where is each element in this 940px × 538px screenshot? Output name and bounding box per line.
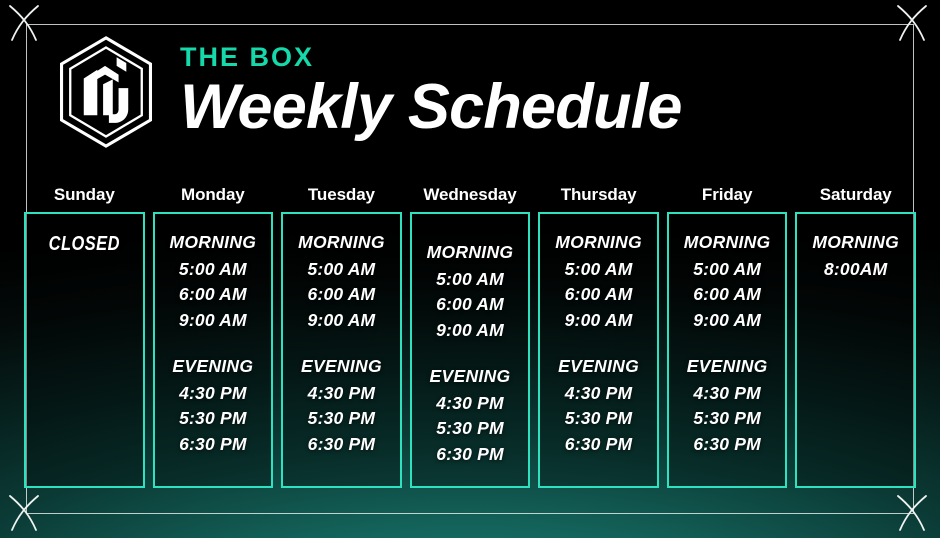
day-card-sunday[interactable]: CLOSED	[24, 212, 145, 488]
session-section-label: MORNING	[283, 234, 400, 252]
class-time-slot[interactable]: 6:30 PM	[412, 446, 529, 464]
day-column-friday: FridayMORNING5:00 AM6:00 AM9:00 AMEVENIN…	[667, 186, 788, 488]
day-column-thursday: ThursdayMORNING5:00 AM6:00 AM9:00 AMEVEN…	[538, 186, 659, 488]
day-column-sunday: SundayCLOSED	[24, 186, 145, 488]
class-time-slot[interactable]: 4:30 PM	[669, 385, 786, 403]
class-time-slot[interactable]: 5:30 PM	[155, 410, 272, 428]
class-time-slot[interactable]: 6:30 PM	[155, 436, 272, 454]
week-grid: SundayCLOSEDMondayMORNING5:00 AM6:00 AM9…	[24, 186, 916, 488]
day-name-label: Friday	[667, 186, 788, 203]
class-time-slot[interactable]: 5:00 AM	[540, 261, 657, 279]
day-name-label: Tuesday	[281, 186, 402, 203]
session-section-label: MORNING	[797, 234, 914, 252]
day-name-label: Thursday	[538, 186, 659, 203]
session-section-label: EVENING	[155, 358, 272, 376]
session-section-label: EVENING	[412, 368, 529, 386]
day-card-content: MORNING5:00 AM6:00 AM9:00 AMEVENING4:30 …	[412, 244, 529, 463]
class-time-slot[interactable]: 4:30 PM	[540, 385, 657, 403]
class-time-slot[interactable]: 9:00 AM	[155, 312, 272, 330]
class-time-slot[interactable]: 5:00 AM	[412, 271, 529, 289]
session-section-label: EVENING	[283, 358, 400, 376]
session-section-label: MORNING	[412, 244, 529, 262]
class-time-slot[interactable]: 5:30 PM	[540, 410, 657, 428]
section-spacer	[412, 347, 529, 368]
class-time-slot[interactable]: 4:30 PM	[412, 395, 529, 413]
class-time-slot[interactable]: 4:30 PM	[283, 385, 400, 403]
class-time-slot[interactable]: 8:00AM	[797, 261, 914, 279]
class-time-slot[interactable]: 9:00 AM	[283, 312, 400, 330]
class-time-slot[interactable]: 5:00 AM	[155, 261, 272, 279]
day-card-thursday[interactable]: MORNING5:00 AM6:00 AM9:00 AMEVENING4:30 …	[538, 212, 659, 488]
weekly-schedule-poster: THE BOX Weekly Schedule SundayCLOSEDMond…	[0, 0, 940, 538]
class-time-slot[interactable]: 5:30 PM	[283, 410, 400, 428]
poster-header: THE BOX Weekly Schedule	[52, 34, 682, 150]
brand-kicker: THE BOX	[180, 44, 682, 71]
class-time-slot[interactable]: 4:30 PM	[155, 385, 272, 403]
day-name-label: Saturday	[795, 186, 916, 203]
day-column-saturday: SaturdayMORNING8:00AM	[795, 186, 916, 488]
session-section-label: MORNING	[540, 234, 657, 252]
class-time-slot[interactable]: 5:30 PM	[669, 410, 786, 428]
hexagon-monogram-logo-icon	[52, 34, 160, 150]
day-column-tuesday: TuesdayMORNING5:00 AM6:00 AM9:00 AMEVENI…	[281, 186, 402, 488]
class-time-slot[interactable]: 6:00 AM	[283, 286, 400, 304]
section-spacer	[155, 337, 272, 358]
day-name-label: Sunday	[24, 186, 145, 203]
day-card-wednesday[interactable]: MORNING5:00 AM6:00 AM9:00 AMEVENING4:30 …	[410, 212, 531, 488]
class-time-slot[interactable]: 9:00 AM	[412, 322, 529, 340]
day-card-tuesday[interactable]: MORNING5:00 AM6:00 AM9:00 AMEVENING4:30 …	[281, 212, 402, 488]
day-name-label: Wednesday	[410, 186, 531, 203]
class-time-slot[interactable]: 9:00 AM	[540, 312, 657, 330]
section-spacer	[540, 337, 657, 358]
day-card-friday[interactable]: MORNING5:00 AM6:00 AM9:00 AMEVENING4:30 …	[667, 212, 788, 488]
page-title: Weekly Schedule	[180, 75, 682, 139]
class-time-slot[interactable]: 5:00 AM	[669, 261, 786, 279]
class-time-slot[interactable]: 6:00 AM	[155, 286, 272, 304]
session-section-label: EVENING	[540, 358, 657, 376]
class-time-slot[interactable]: 6:30 PM	[540, 436, 657, 454]
class-time-slot[interactable]: 6:30 PM	[283, 436, 400, 454]
class-time-slot[interactable]: 6:30 PM	[669, 436, 786, 454]
day-card-content: CLOSED	[26, 234, 143, 254]
day-card-monday[interactable]: MORNING5:00 AM6:00 AM9:00 AMEVENING4:30 …	[153, 212, 274, 488]
day-card-content: MORNING5:00 AM6:00 AM9:00 AMEVENING4:30 …	[669, 234, 786, 453]
day-card-content: MORNING5:00 AM6:00 AM9:00 AMEVENING4:30 …	[283, 234, 400, 453]
class-time-slot[interactable]: 5:00 AM	[283, 261, 400, 279]
class-time-slot[interactable]: 6:00 AM	[412, 296, 529, 314]
day-card-content: MORNING8:00AM	[797, 234, 914, 278]
day-name-label: Monday	[153, 186, 274, 203]
class-time-slot[interactable]: 5:30 PM	[412, 420, 529, 438]
class-time-slot[interactable]: 6:00 AM	[669, 286, 786, 304]
day-column-monday: MondayMORNING5:00 AM6:00 AM9:00 AMEVENIN…	[153, 186, 274, 488]
class-time-slot[interactable]: 9:00 AM	[669, 312, 786, 330]
day-card-content: MORNING5:00 AM6:00 AM9:00 AMEVENING4:30 …	[155, 234, 272, 453]
class-time-slot[interactable]: 6:00 AM	[540, 286, 657, 304]
session-section-label: EVENING	[669, 358, 786, 376]
day-column-wednesday: WednesdayMORNING5:00 AM6:00 AM9:00 AMEVE…	[410, 186, 531, 488]
closed-badge: CLOSED	[36, 234, 132, 254]
session-section-label: MORNING	[669, 234, 786, 252]
day-card-content: MORNING5:00 AM6:00 AM9:00 AMEVENING4:30 …	[540, 234, 657, 453]
section-spacer	[669, 337, 786, 358]
section-spacer	[283, 337, 400, 358]
day-card-saturday[interactable]: MORNING8:00AM	[795, 212, 916, 488]
session-section-label: MORNING	[155, 234, 272, 252]
